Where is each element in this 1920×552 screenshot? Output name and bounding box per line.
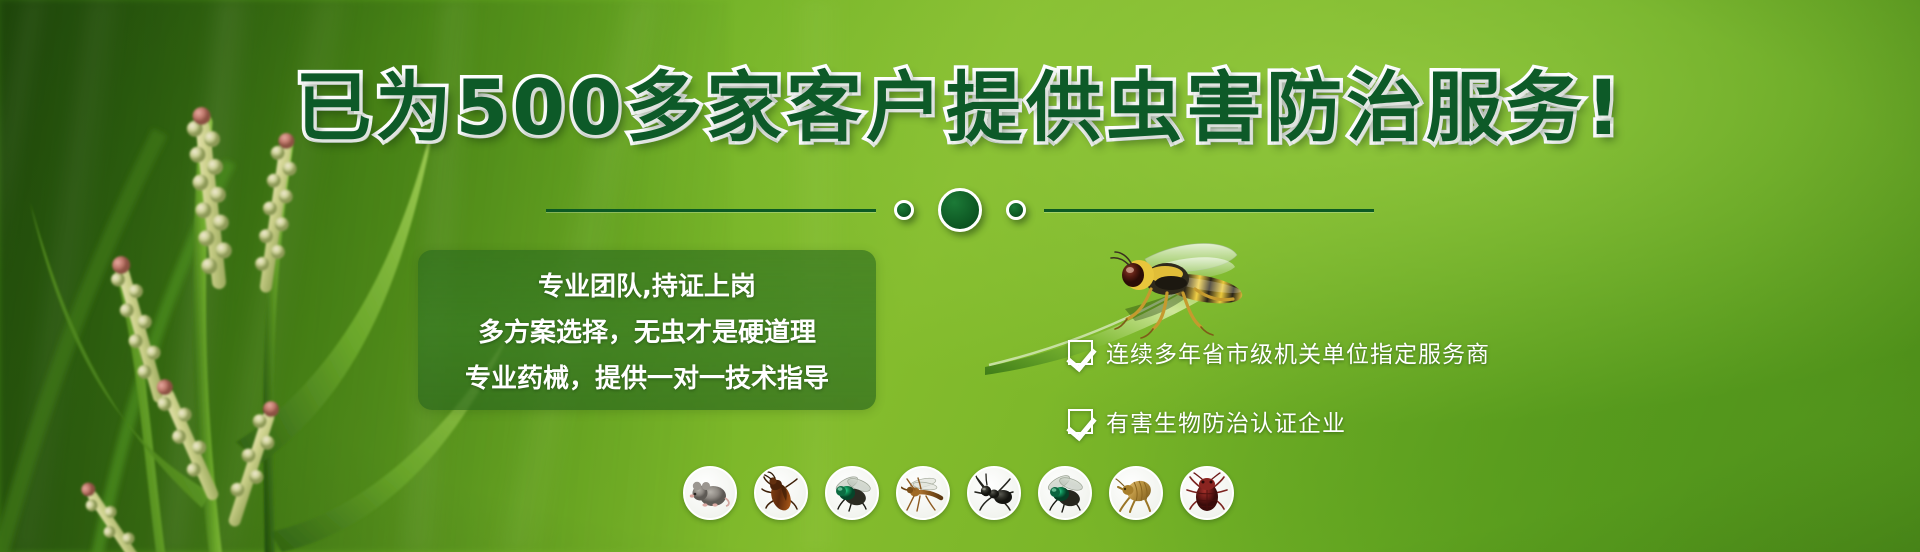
decorative-divider xyxy=(0,188,1920,232)
flea-icon xyxy=(1114,471,1158,515)
ant-icon xyxy=(972,471,1016,515)
bedbug-icon xyxy=(1185,471,1229,515)
checkbox-checked-icon xyxy=(1068,340,1093,365)
banner-headline: 已为500多家客户提供虫害防治服务! xyxy=(0,70,1920,146)
pest-icon-bedbug[interactable] xyxy=(1180,466,1234,520)
pest-icon-row xyxy=(683,466,1234,520)
checklist-item-label: 有害生物防治认证企业 xyxy=(1106,404,1346,438)
mosquito-icon xyxy=(901,471,945,515)
feature-panel-text: 专业团队,持证上岗 多方案选择，无虫才是硬道理 专业药械，提供一对一技术指导 xyxy=(418,250,876,410)
pest-icon-cockroach[interactable] xyxy=(754,466,808,520)
checklist-item-label: 连续多年省市级机关单位指定服务商 xyxy=(1106,335,1490,369)
banner-headline-text: 已为500多家客户提供虫害防治服务! xyxy=(295,63,1624,152)
pest-icon-ant[interactable] xyxy=(967,466,1021,520)
divider-line-right xyxy=(1044,209,1374,212)
pest-icon-flea[interactable] xyxy=(1109,466,1163,520)
feature-line-2: 多方案选择，无虫才是硬道理 xyxy=(478,312,816,349)
credentials-checklist: 连续多年省市级机关单位指定服务商 有害生物防治认证企业 xyxy=(1068,335,1490,438)
checklist-item: 有害生物防治认证企业 xyxy=(1068,404,1490,438)
pest-icon-green-fly[interactable] xyxy=(825,466,879,520)
pest-icon-mosquito[interactable] xyxy=(896,466,950,520)
feature-line-1: 专业团队,持证上岗 xyxy=(538,266,756,303)
feature-line-3: 专业药械，提供一对一技术指导 xyxy=(465,358,829,395)
divider-line-left xyxy=(546,209,876,212)
pest-icon-rat[interactable] xyxy=(683,466,737,520)
green-fly-icon xyxy=(830,471,874,515)
checkbox-checked-icon xyxy=(1068,409,1093,434)
pest-icon-housefly[interactable] xyxy=(1038,466,1092,520)
promo-banner: 已为500多家客户提供虫害防治服务! 专业团队,持证上岗 多方案选择，无虫才是硬… xyxy=(0,0,1920,552)
divider-dot-small-left xyxy=(894,200,914,220)
checklist-item: 连续多年省市级机关单位指定服务商 xyxy=(1068,335,1490,369)
divider-dot-large xyxy=(938,188,982,232)
rat-icon xyxy=(688,471,732,515)
divider-dot-cluster xyxy=(894,188,1026,232)
divider-dot-small-right xyxy=(1006,200,1026,220)
housefly-icon xyxy=(1043,471,1087,515)
cockroach-icon xyxy=(759,471,803,515)
